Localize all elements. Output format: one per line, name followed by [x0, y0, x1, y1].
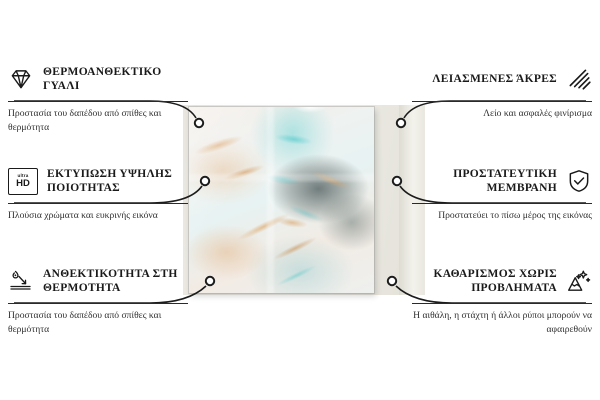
feature-easy-cleaning: ΚΑΘΑΡΙΣΜΟΣ ΧΩΡΙΣ ΠΡΟΒΛΗΜΑΤΑ Η αιθάλη, η …	[412, 264, 592, 337]
feature-divider	[8, 203, 188, 204]
feature-protective-membrane: ΠΡΟΣΤΑΤΕΥΤΙΚΗ ΜΕΜΒΡΑΝΗ Προστατεύει το πί…	[412, 164, 592, 223]
shield-check-icon	[566, 168, 592, 194]
feature-divider	[8, 101, 188, 102]
feature-heat-durability: ΑΝΘΕΚΤΙΚΟΤΗΤΑ ΣΤΗ ΘΕΡΜΟΤΗΤΑ Προστασία το…	[8, 264, 188, 337]
feature-header: ΑΝΘΕΚΤΙΚΟΤΗΤΑ ΣΤΗ ΘΕΡΜΟΤΗΤΑ	[8, 264, 188, 298]
feature-title: ΑΝΘΕΚΤΙΚΟΤΗΤΑ ΣΤΗ ΘΕΡΜΟΤΗΤΑ	[43, 267, 188, 296]
feature-title: ΛΕΙΑΣΜΕΝΕΣ ΆΚΡΕΣ	[432, 72, 557, 86]
sparkle-clean-icon	[566, 268, 592, 294]
feature-divider	[412, 203, 592, 204]
feature-divider	[412, 101, 592, 102]
feature-polished-edges: ΛΕΙΑΣΜΕΝΕΣ ΆΚΡΕΣ Λείο και ασφαλές φινίρι…	[412, 62, 592, 121]
feature-description: Προστασία του δαπέδου από σπίθες και θερ…	[8, 107, 188, 135]
feature-header: ΛΕΙΑΣΜΕΝΕΣ ΆΚΡΕΣ	[412, 62, 592, 96]
feature-description: Η αιθάλη, η στάχτη ή άλλοι ρύποι μπορούν…	[412, 309, 592, 337]
feature-header: ΘΕΡΜΟΑΝΘΕΚΤΙΚΟ ΓΥΑΛΙ	[8, 62, 188, 96]
feature-header: ΠΡΟΣΤΑΤΕΥΤΙΚΗ ΜΕΜΒΡΑΝΗ	[412, 164, 592, 198]
glass-reflection	[189, 107, 374, 293]
feature-title: ΠΡΟΣΤΑΤΕΥΤΙΚΗ ΜΕΜΒΡΑΝΗ	[412, 167, 557, 196]
feature-title: ΘΕΡΜΟΑΝΘΕΚΤΙΚΟ ΓΥΑΛΙ	[43, 65, 188, 94]
feature-description: Προστασία του δαπέδου από σπίθες και θερ…	[8, 309, 188, 337]
ultra-hd-icon-bottom-label: HD	[16, 179, 30, 189]
feature-description: Λείο και ασφαλές φινίρισμα	[412, 107, 592, 121]
feature-divider	[8, 303, 188, 304]
feature-title: ΕΚΤΥΠΩΣΗ ΥΨΗΛΗΣ ΠΟΙΟΤΗΤΑΣ	[47, 167, 188, 196]
flame-resistant-surface-icon	[8, 268, 34, 294]
feature-header: ΚΑΘΑΡΙΣΜΟΣ ΧΩΡΙΣ ΠΡΟΒΛΗΜΑΤΑ	[412, 264, 592, 298]
feature-divider	[412, 303, 592, 304]
diamond-icon	[8, 66, 34, 92]
feature-title: ΚΑΘΑΡΙΣΜΟΣ ΧΩΡΙΣ ΠΡΟΒΛΗΜΑΤΑ	[412, 267, 557, 296]
polished-edges-icon	[566, 66, 592, 92]
feature-header: ultra HD ΕΚΤΥΠΩΣΗ ΥΨΗΛΗΣ ΠΟΙΟΤΗΤΑΣ	[8, 164, 188, 198]
product-image	[175, 105, 425, 295]
infographic-canvas: ΘΕΡΜΟΑΝΘΕΚΤΙΚΟ ΓΥΑΛΙ Προστασία του δαπέδ…	[0, 0, 600, 400]
feature-high-quality-print: ultra HD ΕΚΤΥΠΩΣΗ ΥΨΗΛΗΣ ΠΟΙΟΤΗΤΑΣ Πλούσ…	[8, 164, 188, 223]
ultra-hd-icon: ultra HD	[8, 168, 38, 195]
feature-description: Πλούσια χρώματα και ευκρινής εικόνα	[8, 209, 188, 223]
feature-description: Προστατεύει το πίσω μέρος της εικόνας	[412, 209, 592, 223]
glass-panel	[189, 107, 374, 293]
glass-glare	[293, 107, 327, 113]
feature-heat-resistant-glass: ΘΕΡΜΟΑΝΘΕΚΤΙΚΟ ΓΥΑΛΙ Προστασία του δαπέδ…	[8, 62, 188, 135]
